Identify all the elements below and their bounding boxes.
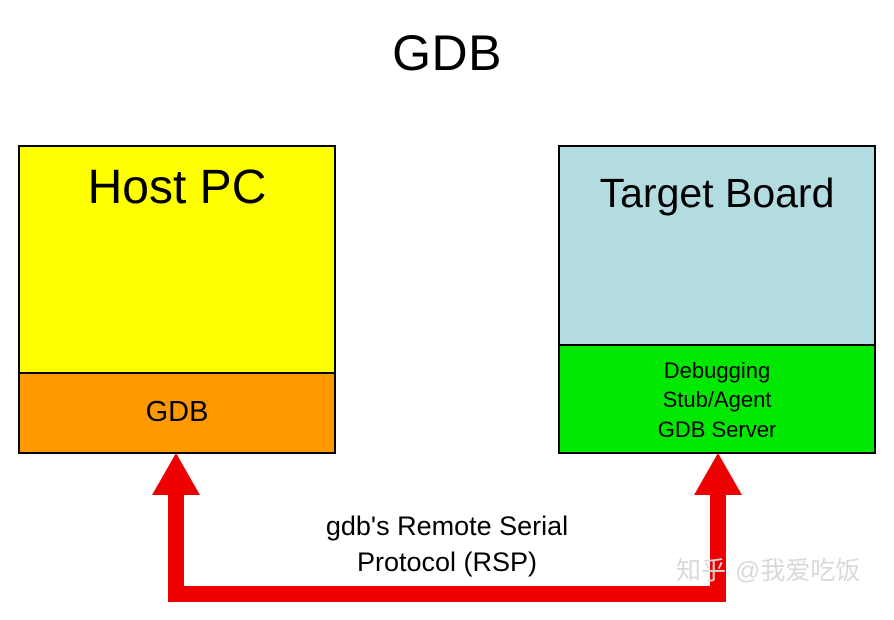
gdb-label: GDB xyxy=(146,397,209,429)
page-title: GDB xyxy=(0,28,894,78)
debug-stub-line-2: Stub/Agent xyxy=(663,385,772,414)
debug-stub-line-1: Debugging xyxy=(664,356,770,385)
watermark-username: @我爱吃饭 xyxy=(735,559,860,584)
host-pc-gdb-section: GDB xyxy=(20,372,334,452)
rsp-caption: gdb's Remote Serial Protocol (RSP) xyxy=(247,508,647,580)
connector-bottom-run xyxy=(168,586,726,602)
target-board-node: Target Board Debugging Stub/Agent GDB Se… xyxy=(558,145,876,454)
arrowhead-up-right-icon xyxy=(694,453,742,495)
target-board-label: Target Board xyxy=(600,172,835,215)
host-pc-upper-section: Host PC xyxy=(20,147,334,372)
rsp-caption-line-1: gdb's Remote Serial xyxy=(247,508,647,544)
arrowhead-up-left-icon xyxy=(152,453,200,495)
host-pc-node: Host PC GDB xyxy=(18,145,336,454)
target-board-upper-section: Target Board xyxy=(560,147,874,344)
watermark-brand: 知乎 xyxy=(676,559,726,584)
watermark: 知乎 @我爱吃饭 xyxy=(676,559,860,584)
connector-left-stem xyxy=(168,470,184,602)
debug-stub-line-3: GDB Server xyxy=(658,415,777,444)
debug-stub-section: Debugging Stub/Agent GDB Server xyxy=(560,344,874,452)
rsp-caption-line-2: Protocol (RSP) xyxy=(247,544,647,580)
host-pc-label: Host PC xyxy=(88,163,267,213)
diagram-canvas: GDB Host PC GDB Target Board Debugging S… xyxy=(0,0,894,620)
